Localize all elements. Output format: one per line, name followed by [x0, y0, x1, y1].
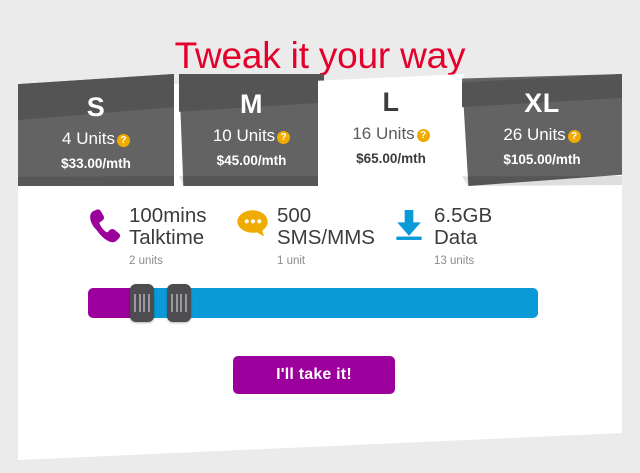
tab-price-label: $65.00/mth — [318, 152, 464, 166]
tab-size-label: XL — [462, 90, 622, 117]
plan-tab-s[interactable]: S 4 Units? $33.00/mth — [18, 74, 174, 186]
tab-price-label: $33.00/mth — [18, 157, 174, 171]
feature-name: Talktime — [129, 227, 207, 249]
tab-units-text: 26 Units — [503, 125, 565, 144]
info-icon[interactable]: ? — [417, 129, 430, 142]
feature-talktime: 100mins Talktime 2 units — [88, 205, 207, 268]
feature-text: 500 SMS/MMS 1 unit — [277, 205, 375, 268]
feature-sms: 500 SMS/MMS 1 unit — [236, 205, 375, 268]
feature-amount: 6.5GB — [434, 205, 492, 227]
allocation-slider[interactable] — [88, 288, 538, 318]
tab-price-label: $105.00/mth — [462, 153, 622, 167]
plan-tab-xl[interactable]: XL 26 Units? $105.00/mth — [462, 74, 622, 186]
feature-amount: 100mins — [129, 205, 207, 227]
feature-name: Data — [434, 227, 492, 249]
feature-data: 6.5GB Data 13 units — [393, 205, 492, 268]
grip-line — [185, 294, 187, 312]
grip-line — [139, 294, 141, 312]
feature-units: 2 units — [129, 256, 207, 268]
feature-amount: 500 — [277, 205, 375, 227]
feature-text: 100mins Talktime 2 units — [129, 205, 207, 268]
tab-price-label: $45.00/mth — [179, 154, 324, 168]
slider-handle-talktime[interactable] — [130, 284, 154, 322]
tab-content: L 16 Units? $65.00/mth — [318, 74, 464, 201]
tab-content: M 10 Units? $45.00/mth — [179, 74, 324, 203]
plan-tab-strip: S 4 Units? $33.00/mth M 10 Units? $45.00… — [18, 74, 622, 186]
feature-units: 13 units — [434, 256, 492, 268]
tab-size-label: M — [179, 91, 324, 118]
tab-size-label: L — [318, 89, 464, 116]
feature-text: 6.5GB Data 13 units — [434, 205, 492, 268]
feature-summary-row: 100mins Talktime 2 units 500 SMS/MMS 1 u… — [18, 205, 622, 275]
phone-icon — [88, 207, 122, 247]
plan-tab-l[interactable]: L 16 Units? $65.00/mth — [318, 74, 464, 186]
slider-track[interactable] — [88, 288, 538, 318]
grip-line — [148, 294, 150, 312]
slider-segment-talktime — [88, 288, 133, 318]
tab-units-label: 26 Units? — [462, 126, 622, 143]
slider-handle-sms[interactable] — [167, 284, 191, 322]
grip-line — [176, 294, 178, 312]
feature-units: 1 unit — [277, 256, 375, 268]
info-icon[interactable]: ? — [117, 134, 130, 147]
plan-tab-m[interactable]: M 10 Units? $45.00/mth — [179, 74, 324, 186]
tab-content: XL 26 Units? $105.00/mth — [462, 74, 622, 202]
grip-line — [134, 294, 136, 312]
grip-line — [143, 294, 145, 312]
grip-line — [171, 294, 173, 312]
speech-bubble-icon — [236, 207, 270, 247]
slider-segment-data — [140, 288, 538, 318]
grip-line — [180, 294, 182, 312]
take-it-button[interactable]: I'll take it! — [233, 356, 395, 394]
tab-units-label: 4 Units? — [18, 130, 174, 147]
tab-size-label: S — [18, 94, 174, 121]
download-arrow-icon — [393, 207, 427, 247]
page-title: Tweak it your way — [0, 33, 640, 79]
info-icon[interactable]: ? — [277, 131, 290, 144]
tab-units-label: 10 Units? — [179, 127, 324, 144]
tab-content: S 4 Units? $33.00/mth — [18, 74, 174, 206]
tab-units-text: 4 Units — [62, 129, 115, 148]
info-icon[interactable]: ? — [568, 130, 581, 143]
tab-units-text: 10 Units — [213, 126, 275, 145]
tab-units-label: 16 Units? — [318, 125, 464, 142]
tab-units-text: 16 Units — [352, 124, 414, 143]
feature-name: SMS/MMS — [277, 227, 375, 249]
